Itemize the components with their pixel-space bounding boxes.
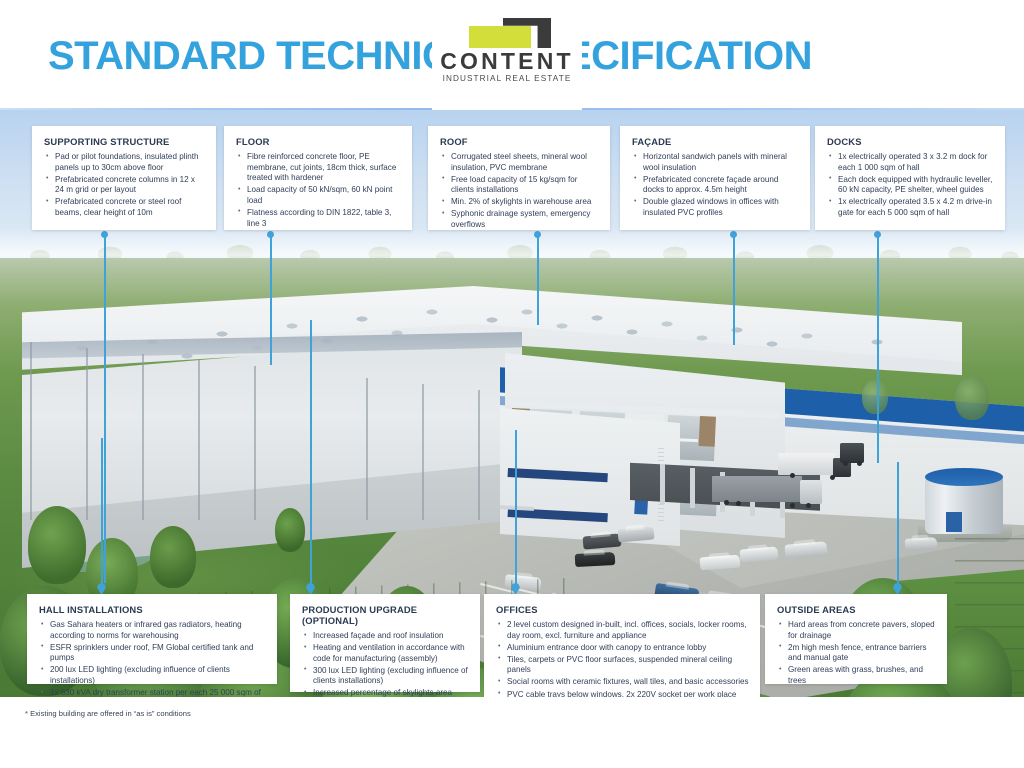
callout-title: FAÇADE <box>632 136 799 147</box>
list-item: Social rooms with ceramic fixtures, wall… <box>496 677 749 688</box>
logo-wordmark: CONTENT <box>432 49 582 73</box>
callout-list: Horizontal sandwich panels with mineral … <box>632 152 799 219</box>
tree-8 <box>275 508 305 552</box>
content-logo: CONTENT INDUSTRIAL REAL ESTATE <box>432 18 582 94</box>
tree-3 <box>150 526 196 588</box>
callout-docks[interactable]: DOCKS 1x electrically operated 3 x 3.2 m… <box>815 126 1005 230</box>
connector-line-supporting-structure <box>104 235 106 583</box>
car-4 <box>700 555 741 571</box>
list-item: Hard areas from concrete pavers, sloped … <box>777 620 936 641</box>
callout-list: Corrugated steel sheets, mineral wool in… <box>440 152 599 231</box>
list-item: Corrugated steel sheets, mineral wool in… <box>440 152 599 173</box>
list-item: 1x electrically operated 3.5 x 4.2 m dri… <box>827 197 994 218</box>
callout-list: Pad or pilot foundations, insulated plin… <box>44 152 205 219</box>
tree-18 <box>862 380 888 414</box>
footnote: * Existing building are offered in “as i… <box>25 709 191 718</box>
list-item: 300 lux LED lighting (excluding influenc… <box>302 666 469 687</box>
callout-list: Fibre reinforced concrete floor, PE memb… <box>236 152 401 229</box>
callout-hall-installations[interactable]: HALL INSTALLATIONS Gas Sahara heaters or… <box>27 594 277 684</box>
callout-facade[interactable]: FAÇADE Horizontal sandwich panels with m… <box>620 126 810 230</box>
list-item: Gas Sahara heaters or infrared gas radia… <box>39 620 266 641</box>
logo-mark-icon <box>447 18 567 48</box>
office-wall-wood-2 <box>699 416 716 447</box>
list-item: Double glazed windows in offices with in… <box>632 197 799 218</box>
callout-title: HALL INSTALLATIONS <box>39 604 266 615</box>
callout-list: Increased façade and roof insulation Hea… <box>302 631 469 699</box>
list-item: Free load capacity of 15 kg/sqm for clie… <box>440 175 599 196</box>
callout-list: Hard areas from concrete pavers, sloped … <box>777 620 936 687</box>
list-item: Load capacity of 50 kN/sqm, 60 kN point … <box>236 185 401 206</box>
callout-supporting-structure[interactable]: SUPPORTING STRUCTURE Pad or pilot founda… <box>32 126 216 230</box>
connector-line-outside-areas <box>897 462 899 590</box>
connector-line-production-upgrade <box>310 320 312 590</box>
callout-list: 1x electrically operated 3 x 3.2 m dock … <box>827 152 994 219</box>
dock-column-1 <box>660 464 665 504</box>
dock-column-2 <box>690 468 695 508</box>
callout-production-upgrade[interactable]: PRODUCTION UPGRADE (OPTIONAL) Increased … <box>290 594 480 692</box>
connector-dot-docks <box>874 231 881 238</box>
list-item: Heating and ventilation in accordance wi… <box>302 643 469 664</box>
list-item: Prefabricated concrete or steel roof bea… <box>44 197 205 218</box>
connector-dot-floor <box>267 231 274 238</box>
sprinkler-tank-door <box>946 512 962 532</box>
page-title: STANDARD TECHNICAL SPECIFICATION <box>48 34 812 79</box>
callout-title: OFFICES <box>496 604 749 615</box>
connector-line-hall-installations <box>101 438 103 590</box>
list-item: Pad or pilot foundations, insulated plin… <box>44 152 205 173</box>
callout-roof[interactable]: ROOF Corrugated steel sheets, mineral wo… <box>428 126 610 230</box>
list-item: Prefabricated concrete columns in 12 x 2… <box>44 175 205 196</box>
list-item: Prefabricated concrete façade around doc… <box>632 175 799 196</box>
car-3 <box>575 552 616 567</box>
callout-title: PRODUCTION UPGRADE (OPTIONAL) <box>302 604 469 626</box>
list-item: Flatness according to DIN 1822, table 3,… <box>236 208 401 229</box>
list-item: Increased façade and roof insulation <box>302 631 469 642</box>
callout-title: ROOF <box>440 136 599 147</box>
car-13 <box>905 537 938 551</box>
list-item: 1x electrically operated 3 x 3.2 m dock … <box>827 152 994 173</box>
list-item: Green areas with grass, brushes, and tre… <box>777 665 936 686</box>
connector-line-floor <box>270 235 272 365</box>
logo-tagline: INDUSTRIAL REAL ESTATE <box>432 73 582 84</box>
list-item: Syphonic drainage system, emergency over… <box>440 209 599 230</box>
tree-1 <box>28 506 86 584</box>
list-item: Horizontal sandwich panels with mineral … <box>632 152 799 173</box>
callout-floor[interactable]: FLOOR Fibre reinforced concrete floor, P… <box>224 126 412 230</box>
tree-17 <box>955 376 989 420</box>
connector-dot-supporting-structure <box>101 231 108 238</box>
list-item: Each dock equipped with hydraulic levell… <box>827 175 994 196</box>
connector-line-docks <box>877 235 879 463</box>
callout-list: Gas Sahara heaters or infrared gas radia… <box>39 620 266 709</box>
callout-title: OUTSIDE AREAS <box>777 604 936 615</box>
list-item: Aluminium entrance door with canopy to e… <box>496 643 749 654</box>
connector-line-offices <box>515 430 517 590</box>
callout-title: DOCKS <box>827 136 994 147</box>
connector-line-facade <box>733 235 735 345</box>
callout-title: FLOOR <box>236 136 401 147</box>
list-item: Tiles, carpets or PVC floor surfaces, su… <box>496 655 749 676</box>
callout-title: SUPPORTING STRUCTURE <box>44 136 205 147</box>
connector-line-roof <box>537 235 539 325</box>
list-item: 2 level custom designed in-built, incl. … <box>496 620 749 641</box>
list-item: ESFR sprinklers under roof, FM Global ce… <box>39 643 266 664</box>
list-item: Min. 2% of skylights in warehouse area <box>440 197 599 208</box>
connector-dot-roof <box>534 231 541 238</box>
callout-outside-areas[interactable]: OUTSIDE AREAS Hard areas from concrete p… <box>765 594 947 684</box>
footer-background <box>0 697 1024 768</box>
infographic-page: STANDARD TECHNICAL SPECIFICATION CONTENT… <box>0 0 1024 768</box>
list-item: 2m high mesh fence, entrance barriers an… <box>777 643 936 664</box>
list-item: Fibre reinforced concrete floor, PE memb… <box>236 152 401 184</box>
sprinkler-tank-roof <box>925 468 1003 486</box>
logo-yellow-bar-icon <box>469 26 531 48</box>
connector-dot-facade <box>730 231 737 238</box>
list-item: 200 lux LED lighting (excluding influenc… <box>39 665 266 686</box>
